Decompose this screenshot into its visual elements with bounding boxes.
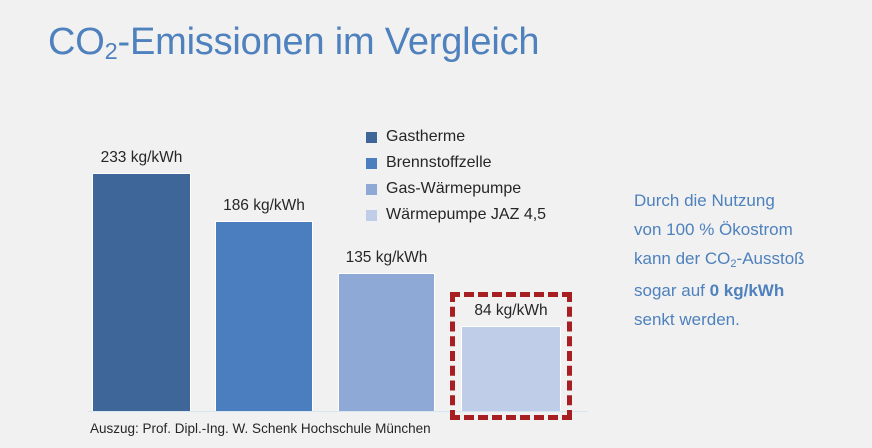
legend-item: Brennstoffzelle bbox=[366, 150, 546, 176]
chart-legend: GasthermeBrennstoffzelleGas-WärmepumpeWä… bbox=[366, 124, 546, 228]
legend-swatch-icon bbox=[366, 184, 377, 195]
side-note-line-3-a: kann der CO bbox=[634, 249, 730, 268]
legend-item: Wärmepumpe JAZ 4,5 bbox=[366, 202, 546, 228]
side-note-emphasis: 0 kg/kWh bbox=[710, 281, 785, 300]
slide-canvas: CO2-Emissionen im Vergleich 233 kg/kWh18… bbox=[0, 0, 872, 448]
legend-swatch-icon bbox=[366, 210, 377, 221]
highlight-callout-box bbox=[450, 292, 572, 420]
legend-swatch-icon bbox=[366, 132, 377, 143]
side-note-line-4-a: sogar auf bbox=[634, 281, 710, 300]
bar-group: 135 kg/kWh bbox=[338, 239, 435, 411]
bar-group: 233 kg/kWh bbox=[92, 139, 191, 411]
legend-swatch-icon bbox=[366, 158, 377, 169]
bar-group: 186 kg/kWh bbox=[215, 187, 313, 411]
bar-value-label: 135 kg/kWh bbox=[346, 249, 428, 267]
side-note-line-5: senkt werden. bbox=[634, 305, 864, 334]
bar bbox=[215, 221, 313, 411]
legend-label: Gastherme bbox=[386, 128, 465, 146]
bar-value-label: 186 kg/kWh bbox=[223, 197, 305, 215]
side-note-line-3-b: -Ausstoß bbox=[737, 249, 805, 268]
source-note: Auszug: Prof. Dipl.-Ing. W. Schenk Hochs… bbox=[90, 421, 431, 436]
legend-label: Gas-Wärmepumpe bbox=[386, 180, 521, 198]
bar-value-label: 233 kg/kWh bbox=[101, 149, 183, 167]
bar bbox=[92, 173, 191, 411]
side-note-line-2: von 100 % Ökostrom bbox=[634, 215, 864, 244]
legend-item: Gas-Wärmepumpe bbox=[366, 176, 546, 202]
side-note-line-4: sogar auf 0 kg/kWh bbox=[634, 276, 864, 305]
bar bbox=[338, 273, 435, 411]
side-note: Durch die Nutzung von 100 % Ökostrom kan… bbox=[634, 186, 864, 334]
legend-item: Gastherme bbox=[366, 124, 546, 150]
legend-label: Brennstoffzelle bbox=[386, 154, 492, 172]
legend-label: Wärmepumpe JAZ 4,5 bbox=[386, 206, 546, 224]
side-note-line-3: kann der CO2-Ausstoß bbox=[634, 244, 864, 276]
side-note-subscript: 2 bbox=[730, 258, 736, 270]
side-note-line-1: Durch die Nutzung bbox=[634, 186, 864, 215]
